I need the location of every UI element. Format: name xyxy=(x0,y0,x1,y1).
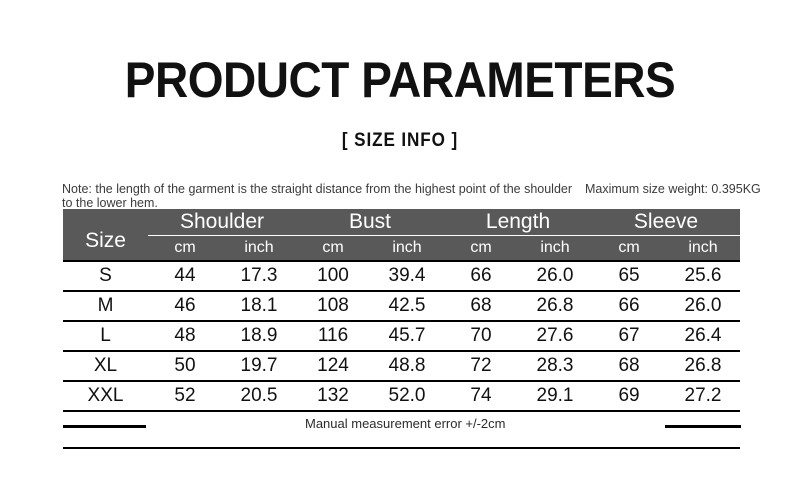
cell-bust-cm: 116 xyxy=(296,321,370,351)
cell-length-inch: 27.6 xyxy=(518,321,592,351)
cell-shoulder-inch: 17.3 xyxy=(222,261,296,291)
cell-shoulder-cm: 48 xyxy=(148,321,222,351)
cell-bust-inch: 45.7 xyxy=(370,321,444,351)
header-unit-bust-inch: inch xyxy=(370,236,444,262)
cell-shoulder-cm: 50 xyxy=(148,351,222,381)
size-info-subtitle: [ SIZE INFO ] xyxy=(40,130,760,152)
header-group-row: Size Shoulder Bust Length Sleeve xyxy=(63,209,740,236)
cell-length-inch: 26.8 xyxy=(518,291,592,321)
cell-sleeve-inch: 26.0 xyxy=(666,291,740,321)
table-row: XL 50 19.7 124 48.8 72 28.3 68 26.8 xyxy=(63,351,740,381)
cell-size: L xyxy=(63,321,148,351)
cell-sleeve-inch: 26.8 xyxy=(666,351,740,381)
table-row: L 48 18.9 116 45.7 70 27.6 67 26.4 xyxy=(63,321,740,351)
cell-shoulder-inch: 18.9 xyxy=(222,321,296,351)
header-unit-length-inch: inch xyxy=(518,236,592,262)
header-group-sleeve: Sleeve xyxy=(592,209,740,236)
cell-sleeve-cm: 68 xyxy=(592,351,666,381)
cell-shoulder-inch: 18.1 xyxy=(222,291,296,321)
cell-length-cm: 70 xyxy=(444,321,518,351)
cell-bust-inch: 42.5 xyxy=(370,291,444,321)
manual-measurement-note: Manual measurement error +/-2cm xyxy=(305,416,585,431)
table-header: Size Shoulder Bust Length Sleeve cm inch… xyxy=(63,209,740,261)
header-size-label: Size xyxy=(63,230,148,251)
size-chart-table: Size Shoulder Bust Length Sleeve cm inch… xyxy=(63,209,740,412)
cell-length-inch: 26.0 xyxy=(518,261,592,291)
cell-bust-cm: 124 xyxy=(296,351,370,381)
cell-sleeve-inch: 25.6 xyxy=(666,261,740,291)
length-measurement-note: Note: the length of the garment is the s… xyxy=(62,182,582,210)
footer-bottom-rule xyxy=(63,447,740,449)
footer-rule-left xyxy=(63,425,146,428)
cell-sleeve-cm: 65 xyxy=(592,261,666,291)
cell-length-cm: 72 xyxy=(444,351,518,381)
cell-size: S xyxy=(63,261,148,291)
table-row: M 46 18.1 108 42.5 68 26.8 66 26.0 xyxy=(63,291,740,321)
cell-length-cm: 68 xyxy=(444,291,518,321)
header-unit-sleeve-inch: inch xyxy=(666,236,740,262)
cell-shoulder-cm: 46 xyxy=(148,291,222,321)
cell-size: XL xyxy=(63,351,148,381)
cell-shoulder-inch: 19.7 xyxy=(222,351,296,381)
header-unit-sleeve-cm: cm xyxy=(592,236,666,262)
header-unit-row: cm inch cm inch cm inch cm inch xyxy=(63,236,740,262)
header-unit-bust-cm: cm xyxy=(296,236,370,262)
title-area: PRODUCT PARAMETERS xyxy=(0,54,800,106)
cell-sleeve-cm: 67 xyxy=(592,321,666,351)
cell-bust-cm: 100 xyxy=(296,261,370,291)
cell-size: M xyxy=(63,291,148,321)
header-size: Size xyxy=(63,209,148,261)
cell-length-inch: 28.3 xyxy=(518,351,592,381)
maximum-weight-note: Maximum size weight: 0.395KG xyxy=(585,182,785,196)
table-body: S 44 17.3 100 39.4 66 26.0 65 25.6 M 46 … xyxy=(63,261,740,411)
header-unit-shoulder-inch: inch xyxy=(222,236,296,262)
cell-shoulder-cm: 44 xyxy=(148,261,222,291)
footer-rule-right xyxy=(665,425,741,428)
header-group-bust: Bust xyxy=(296,209,444,236)
cell-sleeve-cm: 66 xyxy=(592,291,666,321)
footer-zone: Manual measurement error +/-2cm xyxy=(63,404,740,450)
cell-sleeve-inch: 26.4 xyxy=(666,321,740,351)
header-unit-shoulder-cm: cm xyxy=(148,236,222,262)
header-group-shoulder: Shoulder xyxy=(148,209,296,236)
header-unit-length-cm: cm xyxy=(444,236,518,262)
cell-bust-inch: 39.4 xyxy=(370,261,444,291)
cell-bust-inch: 48.8 xyxy=(370,351,444,381)
header-group-length: Length xyxy=(444,209,592,236)
page-title: PRODUCT PARAMETERS xyxy=(32,54,768,106)
cell-length-cm: 66 xyxy=(444,261,518,291)
cell-bust-cm: 108 xyxy=(296,291,370,321)
table-row: S 44 17.3 100 39.4 66 26.0 65 25.6 xyxy=(63,261,740,291)
